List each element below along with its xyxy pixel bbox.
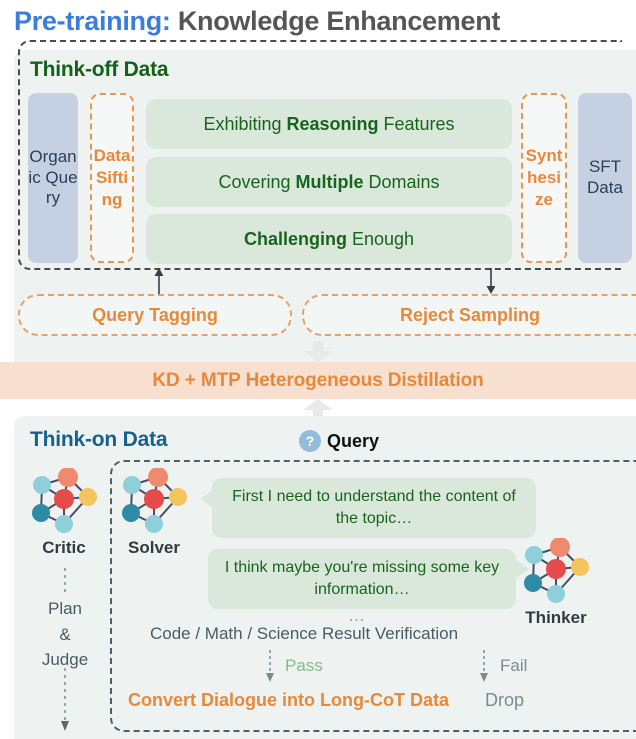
distillation-label: KD + MTP Heterogeneous Distillation [152,370,483,392]
arrow-pass [264,650,276,682]
page-title-main: Knowledge Enhancement [171,6,500,36]
thinker-speech-bubble: I think maybe you're missing some key in… [208,549,516,609]
data-sifting-box: Data Sifting [90,93,134,263]
convert-dialogue-label: Convert Dialogue into Long-CoT Data [128,690,449,711]
think-on-title: Think-on Data [30,428,167,452]
query-label: Query [327,431,379,452]
verification-label: Code / Math / Science Result Verificatio… [150,624,458,644]
solver-bubble-tail [200,490,213,508]
thinker-network-icon [520,538,592,606]
pass-label: Pass [285,656,323,676]
criteria-text-3: Challenging Enough [244,229,414,250]
arrow-down-reject-sampling [485,268,495,294]
plan-judge-line-top [59,568,71,596]
dialogue-ellipsis: … [348,606,367,626]
criteria-box-multiple: Covering Multiple Domains [146,157,512,207]
distillation-band: KD + MTP Heterogeneous Distillation [0,362,636,399]
reject-sampling-box: Reject Sampling [302,294,636,336]
fail-label: Fail [500,656,527,676]
plan-judge-label: Plan&Judge [38,596,92,673]
thinker-bubble-tail [516,560,529,578]
criteria-box-challenging: Challenging Enough [146,214,512,264]
query-tagging-box: Query Tagging [18,294,292,336]
page-title: Pre-training: Knowledge Enhancement [14,6,500,37]
query-chip: ? Query [299,430,379,452]
thinker-label: Thinker [506,608,606,628]
critic-network-icon [28,468,100,536]
solver-speech-bubble: First I need to understand the content o… [212,478,536,538]
criteria-text-2: Covering Multiple Domains [218,172,439,193]
drop-label: Drop [485,690,524,711]
solver-network-icon [118,468,190,536]
critic-label: Critic [14,538,114,558]
arrow-plan-judge-down [59,668,71,732]
question-mark-icon: ? [299,430,321,452]
arrow-fail [478,650,490,682]
criteria-text-1: Exhibiting Reasoning Features [203,114,454,135]
criteria-box-reasoning: Exhibiting Reasoning Features [146,99,512,149]
synthesize-box: Synthesize [521,93,567,263]
page-title-prefix: Pre-training: [14,6,171,36]
arrow-down-into-distillation [302,341,334,363]
solver-label: Solver [104,538,204,558]
arrow-up-query-tagging [153,268,163,294]
organic-query-box: Organic Query [28,93,78,263]
sft-data-box: SFT Data [578,93,632,263]
